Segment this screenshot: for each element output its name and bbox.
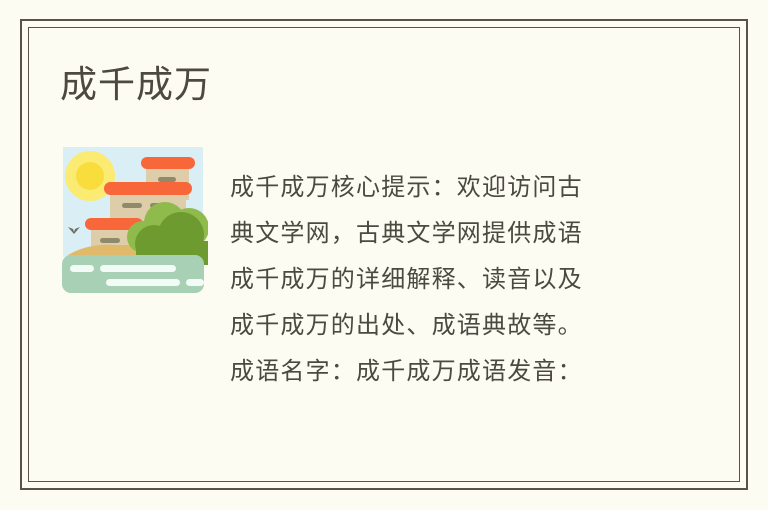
page-root: 成千成万 bbox=[0, 0, 768, 510]
body-line: 典文学网，古典文学网提供成语 bbox=[230, 210, 650, 256]
body-line: 成千成万核心提示：欢迎访问古 bbox=[230, 164, 650, 210]
body-line: 成语名字：成千成万成语发音： bbox=[230, 348, 650, 394]
article-body: 成千成万核心提示：欢迎访问古 典文学网，古典文学网提供成语 成千成万的详细解释、… bbox=[230, 164, 650, 394]
body-line: 成千成万的详细解释、读音以及 bbox=[230, 256, 650, 302]
landscape-village-illustration bbox=[58, 143, 208, 296]
page-title: 成千成万 bbox=[60, 62, 212, 108]
body-line: 成千成万的出处、成语典故等。 bbox=[230, 302, 650, 348]
